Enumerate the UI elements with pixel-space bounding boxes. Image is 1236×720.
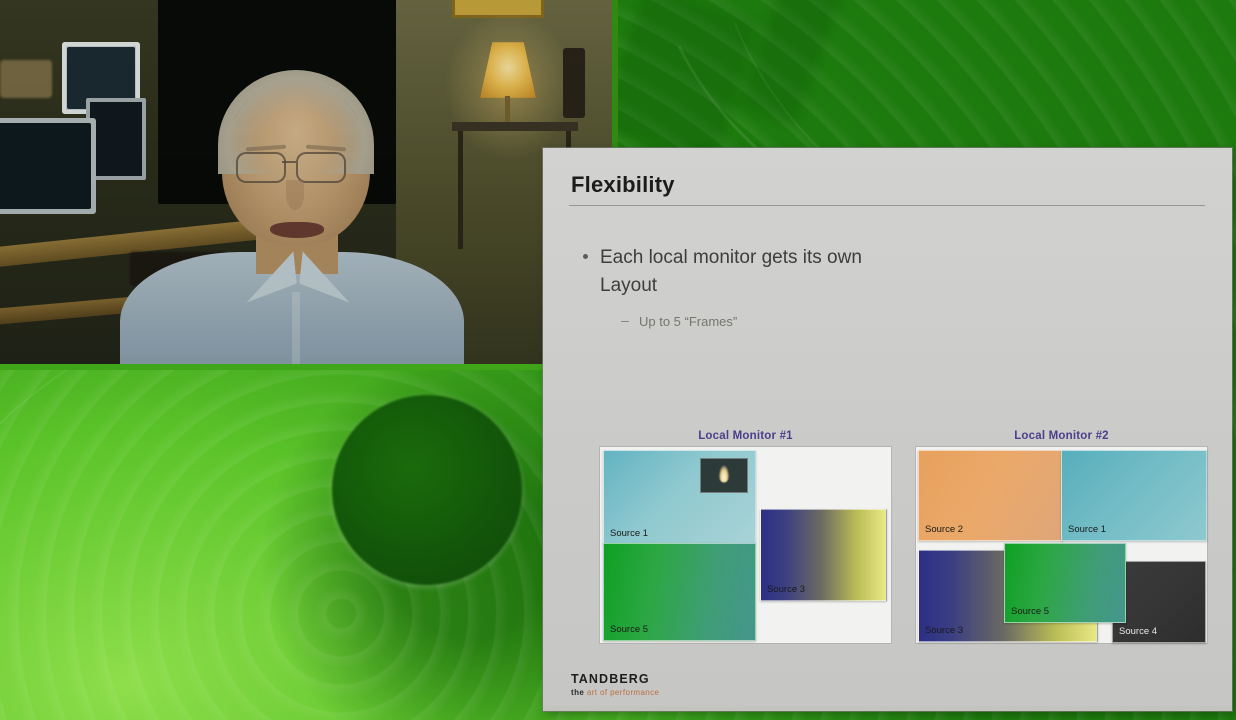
tandberg-logo: TANDBERG the art of performance [571, 672, 659, 697]
source-frame[interactable]: Source 1 [603, 450, 756, 545]
dash-icon [621, 321, 629, 322]
source-frame-label: Source 5 [1011, 606, 1049, 617]
slide-bottom-edge [543, 706, 1232, 711]
pip-thumbnail[interactable] [700, 458, 748, 493]
slide-bullet-text: Each local monitor gets its own Layout [600, 244, 913, 299]
source-frame[interactable]: Source 5 [603, 543, 756, 641]
presentation-slide-panel[interactable]: Flexibility Each local monitor gets its … [543, 148, 1232, 711]
monitor-1-frame[interactable]: Source 1 Source 5 Source 3 [599, 446, 892, 644]
slide-subbullet-text: Up to 5 “Frames” [639, 314, 737, 329]
tandberg-logo-tagline: the art of performance [571, 688, 659, 697]
slide-canvas: Flexibility Each local monitor gets its … [543, 148, 1232, 711]
monitor-group-1: Local Monitor #1 Source 1 Source 5 Sourc… [599, 430, 892, 644]
source-frame[interactable]: Source 4 [1112, 561, 1206, 643]
webcam-video-feed[interactable] [0, 0, 616, 366]
monitor-1-label: Local Monitor #1 [599, 430, 892, 442]
source-frame-label: Source 1 [610, 528, 648, 539]
backdrop-streak [600, 0, 760, 165]
source-frame[interactable]: Source 1 [1061, 450, 1207, 541]
source-frame-label: Source 2 [925, 524, 963, 535]
source-frame[interactable]: Source 3 [760, 509, 887, 601]
slide-subbullet: Up to 5 “Frames” [621, 314, 737, 329]
video-tile-bottom-seam [0, 364, 616, 370]
bullet-dot-icon [583, 254, 588, 259]
tandberg-logo-name: TANDBERG [571, 672, 659, 686]
video-color-grade [0, 0, 616, 366]
backdrop-streak [738, 0, 842, 126]
monitor-2-frame[interactable]: Source 2 Source 1 Source 3 Source 4 Sour… [915, 446, 1208, 644]
tagline-the: the [571, 688, 584, 697]
monitor-group-2: Local Monitor #2 Source 2 Source 1 Sourc… [915, 430, 1208, 644]
flame-icon [719, 466, 729, 483]
screen: Flexibility Each local monitor gets its … [0, 0, 1236, 720]
source-frame-label: Source 3 [925, 625, 963, 636]
monitor-2-label: Local Monitor #2 [915, 430, 1208, 442]
source-frame[interactable]: Source 2 [918, 450, 1063, 541]
tagline-art-of-performance: art of performance [587, 688, 660, 697]
source-frame-label: Source 1 [1068, 524, 1106, 535]
title-divider [569, 205, 1205, 206]
slide-title: Flexibility [571, 172, 675, 198]
slide-bullet: Each local monitor gets its own Layout [583, 244, 913, 299]
source-frame-label: Source 5 [610, 624, 648, 635]
source-frame-label: Source 3 [767, 584, 805, 595]
source-frame[interactable]: Source 5 [1004, 543, 1126, 623]
source-frame-label: Source 4 [1119, 626, 1157, 637]
